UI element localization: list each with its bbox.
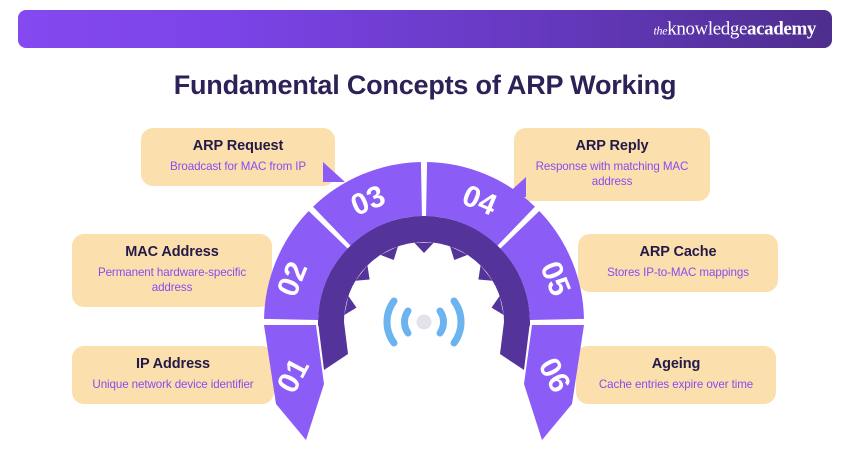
brand-knowledge-text: knowledge <box>667 19 747 40</box>
gear-tooth-icon <box>414 243 433 253</box>
card-ageing-title: Ageing <box>588 356 764 373</box>
brand-logo: theknowledgeacademy <box>653 20 816 39</box>
signal-arc-right-outer-icon <box>454 301 461 343</box>
header-bar: theknowledgeacademy <box>18 10 832 48</box>
wheel-segments-group <box>264 162 584 440</box>
gear-ring-foot <box>500 322 530 370</box>
card-arp-cache-desc: Stores IP-to-MAC mappings <box>590 266 766 281</box>
signal-arc-right-inner-icon <box>440 311 444 333</box>
signal-dot-icon <box>417 315 432 330</box>
card-mac-address-desc: Permanent hardware-specific address <box>84 266 260 296</box>
arp-concept-wheel: 010203040506 <box>244 142 604 442</box>
card-arp-cache: ARP Cache Stores IP-to-MAC mappings <box>578 234 778 292</box>
card-ageing: Ageing Cache entries expire over time <box>576 346 776 404</box>
page-title: Fundamental Concepts of ARP Working <box>0 70 850 101</box>
card-ip-address-title: IP Address <box>84 356 262 373</box>
brand-the-text: the <box>653 24 667 38</box>
brand-academy-text: academy <box>747 19 816 40</box>
gear-ring-foot <box>318 322 348 370</box>
card-ip-address-desc: Unique network device identifier <box>84 378 262 393</box>
wireless-signal-icon <box>387 301 461 343</box>
card-mac-address-title: MAC Address <box>84 244 260 261</box>
card-arp-cache-title: ARP Cache <box>590 244 766 261</box>
signal-arc-left-outer-icon <box>387 301 394 343</box>
card-mac-address: MAC Address Permanent hardware-specific … <box>72 234 272 307</box>
signal-arc-left-inner-icon <box>404 311 408 333</box>
card-ageing-desc: Cache entries expire over time <box>588 378 764 393</box>
